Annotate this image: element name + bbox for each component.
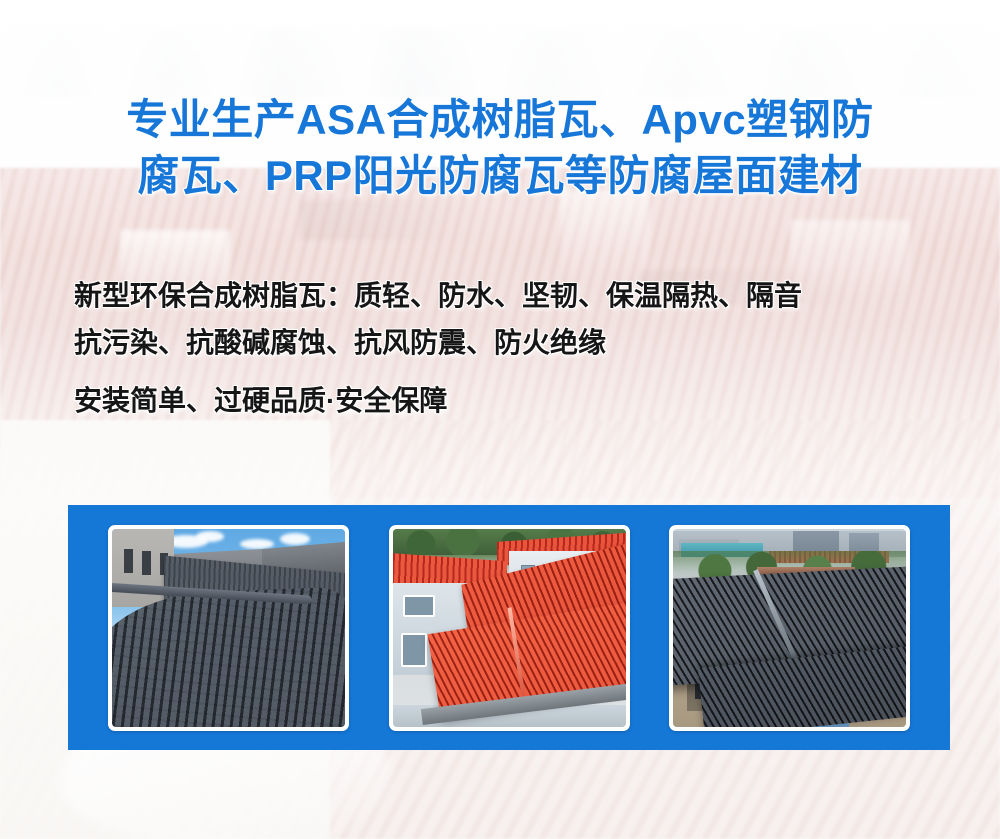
feature-line-3: 安装简单、过硬品质·安全保障 — [74, 377, 802, 424]
window-shape — [403, 595, 435, 617]
photo-grey-tile-roof-courtyard-image — [112, 529, 345, 727]
photo-red-tile-roof-building[interactable] — [389, 525, 630, 731]
feature-line-1: 新型环保合成树脂瓦：质轻、防水、坚韧、保温隔热、隔音 — [74, 272, 802, 319]
window-shape — [401, 633, 427, 667]
window-shape — [142, 551, 151, 575]
feature-line-2: 抗污染、抗酸碱腐蚀、抗风防震、防火绝缘 — [74, 319, 802, 366]
photo-grey-tile-roof-courtyard[interactable] — [108, 525, 349, 731]
photo-red-tile-roof-building-image — [393, 529, 626, 727]
photo-dark-tile-roof-village-image — [673, 529, 906, 727]
feature-list: 新型环保合成树脂瓦：质轻、防水、坚韧、保温隔热、隔音 抗污染、抗酸碱腐蚀、抗风防… — [74, 272, 802, 424]
photo-dark-tile-roof-village[interactable] — [669, 525, 910, 731]
cloud-shape — [240, 539, 274, 549]
headline-line-1: 专业生产ASA合成树脂瓦、Apvc塑钢防 — [0, 92, 1000, 148]
product-banner: 专业生产ASA合成树脂瓦、Apvc塑钢防 腐瓦、PRP阳光防腐瓦等防腐屋面建材 … — [0, 0, 1000, 839]
photo-gallery-panel — [68, 505, 950, 750]
window-shape — [124, 549, 133, 573]
headline: 专业生产ASA合成树脂瓦、Apvc塑钢防 腐瓦、PRP阳光防腐瓦等防腐屋面建材 — [0, 92, 1000, 204]
grey-tile-roof — [112, 586, 345, 727]
cloud-shape — [280, 533, 310, 545]
headline-line-2: 腐瓦、PRP阳光防腐瓦等防腐屋面建材 — [0, 148, 1000, 204]
cloud-shape — [196, 531, 224, 542]
